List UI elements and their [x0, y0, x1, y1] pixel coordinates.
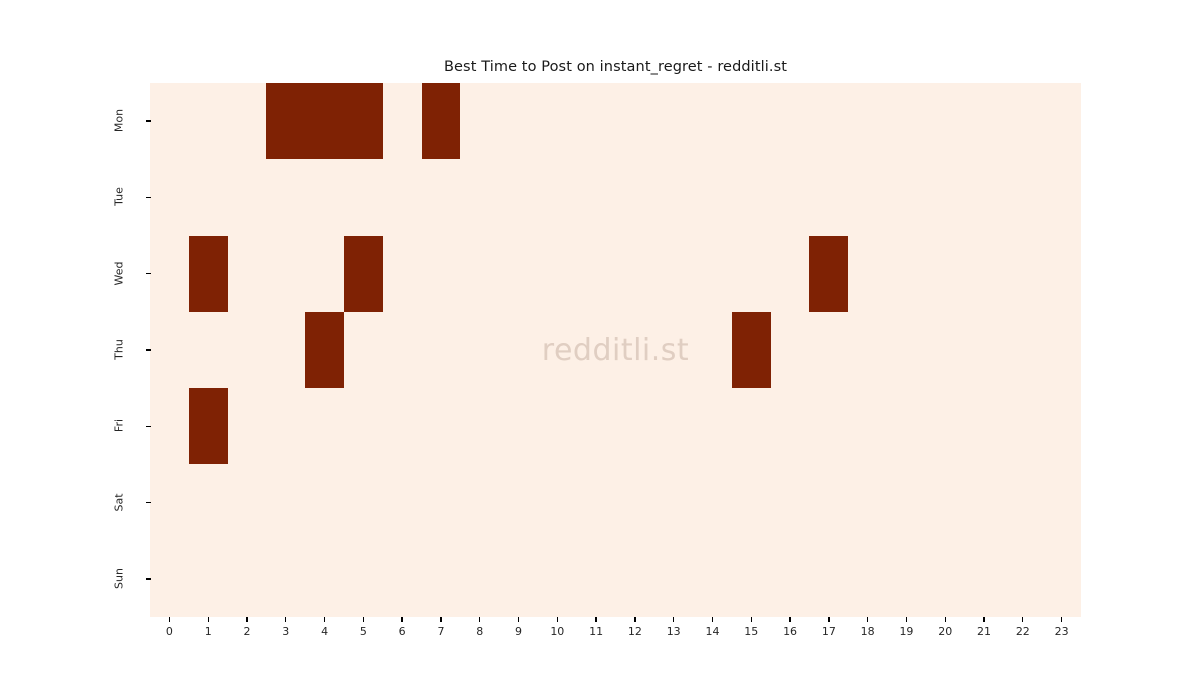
x-axis-tick-label: 3	[266, 625, 306, 638]
x-axis-tick-label: 2	[227, 625, 267, 638]
x-axis-tick	[789, 617, 790, 622]
x-axis-tick-label: 18	[848, 625, 888, 638]
x-axis-tick-label: 1	[188, 625, 228, 638]
x-axis-tick-label: 12	[615, 625, 655, 638]
x-axis-tick	[751, 617, 752, 622]
x-axis-tick	[1061, 617, 1062, 622]
x-axis-tick	[867, 617, 868, 622]
x-axis-tick-label: 11	[576, 625, 616, 638]
x-axis-tick	[246, 617, 247, 622]
x-axis-tick	[401, 617, 402, 622]
x-axis-tick-label: 13	[654, 625, 694, 638]
x-axis-tick	[479, 617, 480, 622]
x-axis-tick	[440, 617, 441, 622]
x-axis-tick	[712, 617, 713, 622]
x-axis-tick	[945, 617, 946, 622]
x-axis-tick-label: 22	[1003, 625, 1043, 638]
x-axis-tick-label: 19	[886, 625, 926, 638]
x-axis-tick	[518, 617, 519, 622]
x-axis-tick	[324, 617, 325, 622]
x-axis-tick-label: 16	[770, 625, 810, 638]
x-axis-tick-label: 9	[499, 625, 539, 638]
x-axis-tick-label: 7	[421, 625, 461, 638]
x-axis: 01234567891011121314151617181920212223	[0, 0, 1200, 700]
x-axis-tick-label: 15	[731, 625, 771, 638]
x-axis-tick-label: 20	[925, 625, 965, 638]
x-axis-tick	[906, 617, 907, 622]
x-axis-tick	[169, 617, 170, 622]
x-axis-tick	[595, 617, 596, 622]
x-axis-tick-label: 14	[692, 625, 732, 638]
x-axis-tick-label: 10	[537, 625, 577, 638]
x-axis-tick	[285, 617, 286, 622]
x-axis-tick	[557, 617, 558, 622]
x-axis-tick-label: 6	[382, 625, 422, 638]
x-axis-tick-label: 17	[809, 625, 849, 638]
x-axis-tick	[1022, 617, 1023, 622]
x-axis-tick-label: 4	[305, 625, 345, 638]
x-axis-tick	[673, 617, 674, 622]
heatmap-figure: Best Time to Post on instant_regret - re…	[0, 0, 1200, 700]
x-axis-tick	[208, 617, 209, 622]
x-axis-tick-label: 23	[1042, 625, 1082, 638]
x-axis-tick	[634, 617, 635, 622]
x-axis-tick	[363, 617, 364, 622]
x-axis-tick-label: 8	[460, 625, 500, 638]
x-axis-tick-label: 0	[149, 625, 189, 638]
x-axis-tick	[983, 617, 984, 622]
x-axis-tick-label: 21	[964, 625, 1004, 638]
x-axis-tick-label: 5	[343, 625, 383, 638]
x-axis-tick	[828, 617, 829, 622]
